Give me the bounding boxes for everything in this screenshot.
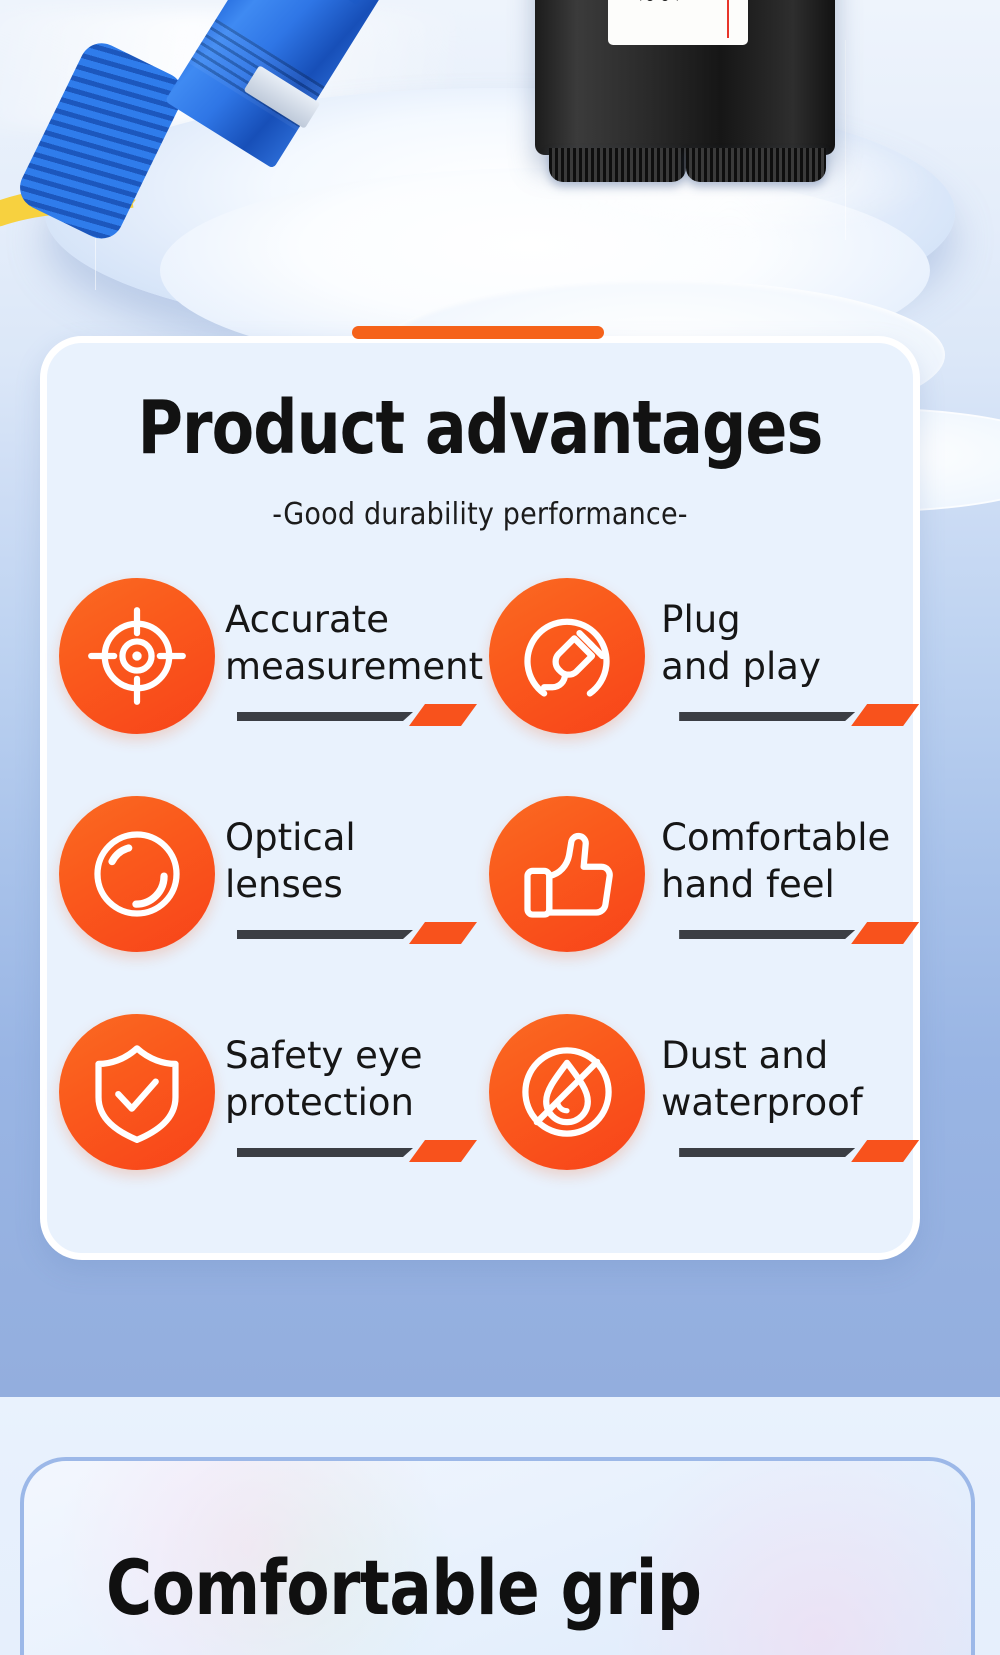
divider-orange-segment — [851, 1140, 919, 1162]
hero-guide-line — [845, 40, 846, 240]
feature-optical-lenses: Optical lenses — [53, 796, 483, 970]
section-title: Comfortable grip — [106, 1543, 701, 1632]
feature-text-block: Optical lenses — [225, 796, 483, 909]
no-water-drop-icon — [489, 1014, 645, 1170]
page-subtitle: -Good durability performance- — [47, 497, 913, 532]
divider-grey-segment — [237, 930, 413, 939]
weee-crossed-out-bin-icon — [638, 0, 684, 2]
page-title: Product advantages — [77, 391, 882, 465]
device-rating-label — [608, 0, 748, 45]
comfortable-grip-card: Comfortable grip — [20, 1457, 975, 1655]
feature-text-block: Comfortable hand feel — [661, 796, 907, 909]
feature-label-line2: lenses — [225, 861, 483, 908]
divider-orange-segment — [409, 704, 477, 726]
feature-label-line2: measurement — [225, 643, 483, 690]
divider-orange-segment — [851, 704, 919, 726]
feature-label-line2: protection — [225, 1079, 483, 1126]
device-knurled-ring-right — [686, 148, 826, 182]
feature-text-block: Safety eye protection — [225, 1014, 483, 1127]
divider-grey-segment — [237, 1148, 413, 1157]
feature-label-line1: Comfortable — [661, 814, 907, 861]
feature-label-line2: waterproof — [661, 1079, 907, 1126]
feature-accurate-measurement: Accurate measurement — [53, 578, 483, 752]
feature-text-block: Accurate measurement — [225, 578, 483, 691]
feature-text-block: Dust and waterproof — [661, 1014, 907, 1127]
divider-grey-segment — [679, 712, 855, 721]
features-grid: Accurate measurement — [47, 578, 913, 1188]
crosshair-target-icon — [59, 578, 215, 734]
thumbs-up-icon — [489, 796, 645, 952]
divider-orange-segment — [851, 922, 919, 944]
feature-label-line1: Safety eye — [225, 1032, 483, 1079]
divider-orange-segment — [409, 922, 477, 944]
feature-divider — [237, 1140, 475, 1162]
feature-label-line1: Accurate — [225, 596, 483, 643]
feature-divider — [679, 922, 917, 944]
feature-plug-and-play: Plug and play — [483, 578, 907, 752]
divider-grey-segment — [679, 930, 855, 939]
accent-bar — [352, 326, 604, 339]
black-device-body — [535, 0, 835, 155]
feature-divider — [237, 922, 475, 944]
feature-text-block: Plug and play — [661, 578, 907, 691]
divider-grey-segment — [237, 712, 413, 721]
plug-in-circle-icon — [489, 578, 645, 734]
label-red-line — [727, 0, 729, 38]
comfortable-grip-section: Comfortable grip — [0, 1397, 1000, 1655]
feature-dust-and-waterproof: Dust and waterproof — [483, 1014, 907, 1188]
device-knurled-ring-left — [549, 148, 686, 182]
feature-label-line1: Plug — [661, 596, 907, 643]
product-advantages-card: Product advantages -Good durability perf… — [40, 336, 920, 1260]
feature-divider — [679, 1140, 917, 1162]
feature-divider — [237, 704, 475, 726]
shield-check-icon — [59, 1014, 215, 1170]
feature-label-line2: hand feel — [661, 861, 907, 908]
optical-lens-icon — [59, 796, 215, 952]
feature-divider — [679, 704, 917, 726]
connector-latch-right — [318, 0, 403, 5]
product-detail-page: Product advantages -Good durability perf… — [0, 0, 1000, 1655]
feature-label-line1: Dust and — [661, 1032, 907, 1079]
feature-label-line1: Optical — [225, 814, 483, 861]
feature-comfortable-hand-feel: Comfortable hand feel — [483, 796, 907, 970]
divider-orange-segment — [409, 1140, 477, 1162]
feature-label-line2: and play — [661, 643, 907, 690]
feature-safety-eye-protection: Safety eye protection — [53, 1014, 483, 1188]
divider-grey-segment — [679, 1148, 855, 1157]
